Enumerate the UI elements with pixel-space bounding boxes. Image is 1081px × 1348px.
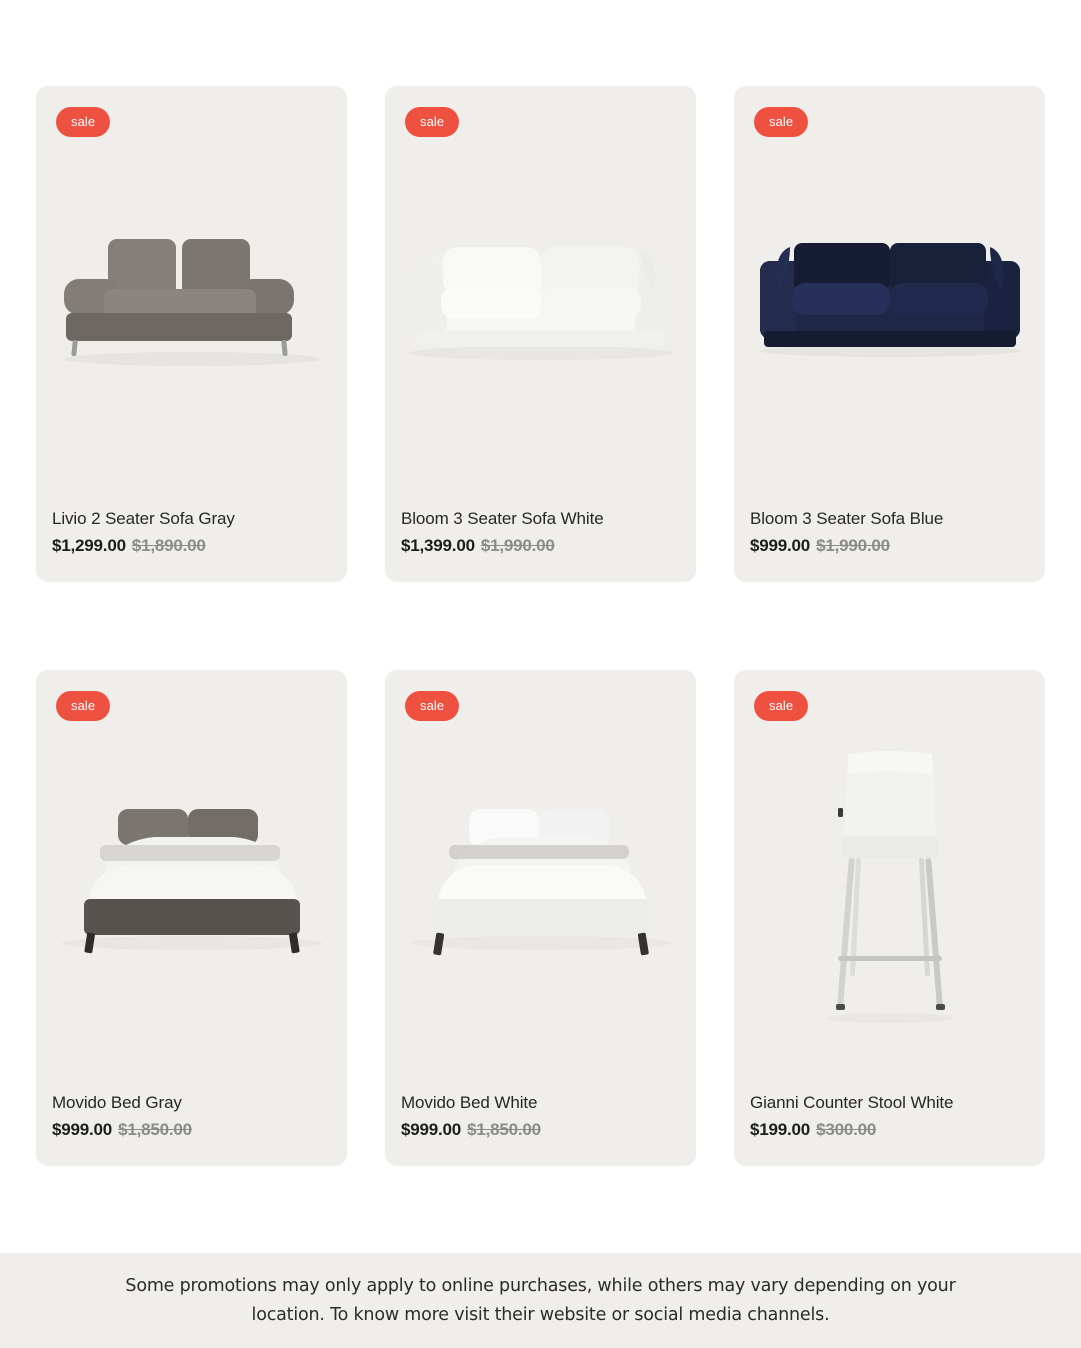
product-card[interactable]: sale Bloom 3 Seater Sofa White bbox=[385, 86, 696, 582]
sale-badge: sale bbox=[405, 107, 459, 137]
disclaimer-text: Some promotions may only apply to online… bbox=[101, 1272, 981, 1329]
sale-badge: sale bbox=[56, 107, 110, 137]
product-image-sofa-2-seater-gray bbox=[36, 86, 347, 509]
product-image-sofa-3-seater-white bbox=[385, 86, 696, 509]
product-info: Livio 2 Seater Sofa Gray $1,299.00$1,890… bbox=[36, 509, 347, 582]
price-current: $199.00 bbox=[750, 1120, 810, 1139]
price-original: $300.00 bbox=[816, 1120, 876, 1139]
price-original: $1,850.00 bbox=[118, 1120, 192, 1139]
product-title: Movido Bed White bbox=[401, 1093, 680, 1113]
product-title: Movido Bed Gray bbox=[52, 1093, 331, 1113]
product-grid-page: sale Livio 2 Seater Sofa Gray $1,29 bbox=[0, 0, 1081, 1348]
price-current: $1,299.00 bbox=[52, 536, 126, 555]
product-card[interactable]: sale Livio 2 Seater Sofa Gray $1,29 bbox=[36, 86, 347, 582]
product-card[interactable]: sale Gianni Counter S bbox=[734, 670, 1045, 1166]
price-original: $1,890.00 bbox=[132, 536, 206, 555]
product-image-counter-stool-white bbox=[734, 670, 1045, 1093]
product-title: Bloom 3 Seater Sofa White bbox=[401, 509, 680, 529]
product-prices: $1,299.00$1,890.00 bbox=[52, 536, 331, 556]
product-info: Movido Bed White $999.00$1,850.00 bbox=[385, 1093, 696, 1166]
product-title: Gianni Counter Stool White bbox=[750, 1093, 1029, 1113]
sale-badge: sale bbox=[56, 691, 110, 721]
sale-badge: sale bbox=[754, 107, 808, 137]
product-image-bed-gray bbox=[36, 670, 347, 1093]
product-info: Movido Bed Gray $999.00$1,850.00 bbox=[36, 1093, 347, 1166]
product-grid: sale Livio 2 Seater Sofa Gray $1,29 bbox=[0, 0, 1081, 1166]
footer-disclaimer-band: Some promotions may only apply to online… bbox=[0, 1253, 1081, 1348]
product-title: Livio 2 Seater Sofa Gray bbox=[52, 509, 331, 529]
product-prices: $999.00$1,850.00 bbox=[52, 1120, 331, 1140]
product-prices: $999.00$1,850.00 bbox=[401, 1120, 680, 1140]
product-card[interactable]: sale Movido Bed Gray $999.00$1,850. bbox=[36, 670, 347, 1166]
price-original: $1,990.00 bbox=[481, 536, 555, 555]
product-prices: $1,399.00$1,990.00 bbox=[401, 536, 680, 556]
price-current: $999.00 bbox=[750, 536, 810, 555]
product-card[interactable]: sale Bloom 3 Seater Sofa Blue bbox=[734, 86, 1045, 582]
product-prices: $199.00$300.00 bbox=[750, 1120, 1029, 1140]
sale-badge: sale bbox=[754, 691, 808, 721]
product-info: Bloom 3 Seater Sofa White $1,399.00$1,99… bbox=[385, 509, 696, 582]
product-info: Gianni Counter Stool White $199.00$300.0… bbox=[734, 1093, 1045, 1166]
price-current: $999.00 bbox=[401, 1120, 461, 1139]
price-current: $999.00 bbox=[52, 1120, 112, 1139]
price-current: $1,399.00 bbox=[401, 536, 475, 555]
product-image-bed-white bbox=[385, 670, 696, 1093]
product-prices: $999.00$1,990.00 bbox=[750, 536, 1029, 556]
price-original: $1,990.00 bbox=[816, 536, 890, 555]
product-info: Bloom 3 Seater Sofa Blue $999.00$1,990.0… bbox=[734, 509, 1045, 582]
product-card[interactable]: sale Movido Bed White $999.00$1,850 bbox=[385, 670, 696, 1166]
product-title: Bloom 3 Seater Sofa Blue bbox=[750, 509, 1029, 529]
product-image-sofa-3-seater-blue bbox=[734, 86, 1045, 509]
sale-badge: sale bbox=[405, 691, 459, 721]
price-original: $1,850.00 bbox=[467, 1120, 541, 1139]
